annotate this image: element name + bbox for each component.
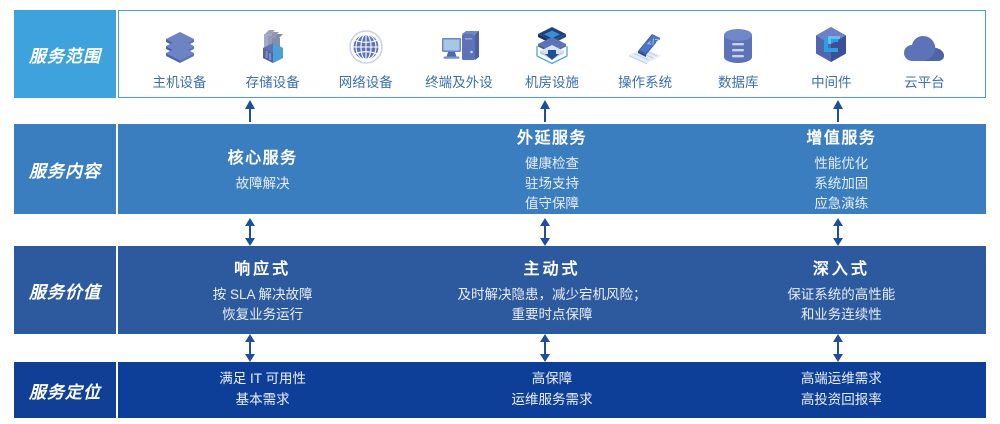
row-label-service-content: 服务内容 xyxy=(14,124,116,214)
row-label-service-value: 服务价值 xyxy=(14,246,116,334)
scope-item-network-device[interactable]: 网络设备 xyxy=(319,17,412,91)
row-service-scope: 服务范围 xyxy=(0,10,1000,98)
value-column-lines: 按 SLA 解决故障 恢复业务运行 xyxy=(213,285,313,326)
content-line: 驻场支持 xyxy=(525,174,579,194)
content-column-extended-service[interactable]: 外延服务 健康检查 驻场支持 值守保障 xyxy=(407,124,696,214)
connector-value-to-position-1 xyxy=(242,334,258,362)
scope-item-operating-system[interactable]: </> 操作系统 xyxy=(599,17,692,91)
scope-item-storage-device[interactable]: 存储设备 xyxy=(226,17,319,91)
content-line: 系统加固 xyxy=(814,174,868,194)
scope-item-terminal-peripheral[interactable]: 终端及外设 xyxy=(412,17,505,91)
globe-network-icon xyxy=(347,24,385,66)
position-line: 基本需求 xyxy=(219,390,306,411)
position-line: 高投资回报率 xyxy=(801,390,882,411)
value-column-proactive[interactable]: 主动式 及时解决隐患，减少宕机风险； 重要时点保障 xyxy=(407,246,696,334)
connector-scope-to-content-3 xyxy=(830,100,846,122)
content-column-title: 核心服务 xyxy=(228,144,298,168)
value-column-title: 响应式 xyxy=(234,255,291,279)
value-line: 恢复业务运行 xyxy=(213,305,313,325)
value-column-title: 主动式 xyxy=(523,255,580,279)
desktop-pc-icon xyxy=(438,24,480,66)
row-service-value: 服务价值 响应式 按 SLA 解决故障 恢复业务运行 主动式 及时解决隐患，减少… xyxy=(0,246,1000,334)
content-column-title: 增值服务 xyxy=(806,124,876,148)
server-stack-icon xyxy=(160,24,200,66)
row-label-service-positioning: 服务定位 xyxy=(14,362,116,418)
connector-value-to-position-2 xyxy=(537,334,553,362)
scope-item-host-device[interactable]: 主机设备 xyxy=(133,17,226,91)
content-column-lines: 故障解决 xyxy=(236,174,290,194)
connector-content-to-value-2 xyxy=(537,218,553,246)
position-column-lines: 高保障 运维服务需求 xyxy=(511,369,592,411)
content-column-core-service[interactable]: 核心服务 故障解决 xyxy=(118,124,407,214)
value-line: 保证系统的高性能 xyxy=(787,285,895,305)
content-line: 故障解决 xyxy=(236,174,290,194)
value-column-lines: 及时解决隐患，减少宕机风险； 重要时点保障 xyxy=(457,285,646,326)
cloud-icon xyxy=(902,24,946,66)
storage-array-icon xyxy=(253,24,293,66)
connector-value-to-position-3 xyxy=(830,334,846,362)
row-label-text: 服务内容 xyxy=(29,157,101,182)
value-line: 和业务连续性 xyxy=(787,305,895,325)
position-column-lines: 高端运维需求 高投资回报率 xyxy=(801,369,882,411)
content-column-lines: 健康检查 驻场支持 值守保障 xyxy=(525,154,579,215)
row-label-text: 服务范围 xyxy=(29,42,101,67)
value-line: 按 SLA 解决故障 xyxy=(213,285,313,305)
scope-item-label: 存储设备 xyxy=(246,71,300,91)
connector-content-to-value-1 xyxy=(242,218,258,246)
scope-item-label: 操作系统 xyxy=(618,71,672,91)
value-column-indepth[interactable]: 深入式 保证系统的高性能 和业务连续性 xyxy=(697,246,986,334)
value-line: 重要时点保障 xyxy=(457,305,646,325)
content-line: 性能优化 xyxy=(814,154,868,174)
position-line: 运维服务需求 xyxy=(511,390,592,411)
service-positioning-columns: 满足 IT 可用性 基本需求 高保障 运维服务需求 高端运维需求 高投资回报率 xyxy=(118,362,986,418)
scope-item-datacenter-facility[interactable]: 机房设施 xyxy=(505,17,598,91)
laptop-code-icon: </> xyxy=(623,24,667,66)
connector-content-to-value-3 xyxy=(830,218,846,246)
connector-scope-to-content-2 xyxy=(537,100,553,122)
scope-item-label: 主机设备 xyxy=(153,71,207,91)
scope-item-database[interactable]: 数据库 xyxy=(692,17,785,91)
position-column-lines: 满足 IT 可用性 基本需求 xyxy=(219,369,306,411)
scope-item-label: 云平台 xyxy=(904,71,945,91)
cube-middleware-icon xyxy=(811,24,851,66)
row-label-service-scope: 服务范围 xyxy=(14,10,116,98)
row-service-content: 服务内容 核心服务 故障解决 外延服务 健康检查 驻场支持 值守保障 增值服务 xyxy=(0,124,1000,214)
service-content-columns: 核心服务 故障解决 外延服务 健康检查 驻场支持 值守保障 增值服务 性能优化 … xyxy=(118,124,986,214)
row-service-positioning: 服务定位 满足 IT 可用性 基本需求 高保障 运维服务需求 高端运维需求 高投… xyxy=(0,362,1000,418)
row-label-text: 服务定位 xyxy=(29,378,101,403)
value-column-lines: 保证系统的高性能 和业务连续性 xyxy=(787,285,895,326)
scope-item-label: 机房设施 xyxy=(525,71,579,91)
scope-item-label: 终端及外设 xyxy=(425,71,493,91)
position-column-basic[interactable]: 满足 IT 可用性 基本需求 xyxy=(118,362,407,418)
scope-item-middleware[interactable]: 中间件 xyxy=(785,17,878,91)
scope-item-label: 网络设备 xyxy=(339,71,393,91)
content-column-title: 外延服务 xyxy=(517,124,587,148)
content-line: 健康检查 xyxy=(525,154,579,174)
position-column-highend[interactable]: 高端运维需求 高投资回报率 xyxy=(697,362,986,418)
value-line: 及时解决隐患，减少宕机风险； xyxy=(457,285,646,305)
database-cylinder-icon xyxy=(719,24,757,66)
row-label-text: 服务价值 xyxy=(29,278,101,303)
scope-item-label: 中间件 xyxy=(811,71,852,91)
position-line: 高端运维需求 xyxy=(801,369,882,390)
scope-item-cloud-platform[interactable]: 云平台 xyxy=(878,17,971,91)
data-center-icon xyxy=(530,24,574,66)
content-column-lines: 性能优化 系统加固 应急演练 xyxy=(814,154,868,215)
connector-scope-to-content-1 xyxy=(242,100,258,122)
content-column-value-added-service[interactable]: 增值服务 性能优化 系统加固 应急演练 xyxy=(697,124,986,214)
svg-text:</>: </> xyxy=(646,36,661,48)
position-line: 满足 IT 可用性 xyxy=(219,369,306,390)
content-line: 应急演练 xyxy=(814,194,868,214)
position-line: 高保障 xyxy=(511,369,592,390)
scope-item-label: 数据库 xyxy=(718,71,759,91)
value-column-responsive[interactable]: 响应式 按 SLA 解决故障 恢复业务运行 xyxy=(118,246,407,334)
position-column-assurance[interactable]: 高保障 运维服务需求 xyxy=(407,362,696,418)
value-column-title: 深入式 xyxy=(813,255,870,279)
service-value-columns: 响应式 按 SLA 解决故障 恢复业务运行 主动式 及时解决隐患，减少宕机风险；… xyxy=(118,246,986,334)
service-system-diagram: 服务范围 xyxy=(0,0,1000,424)
service-scope-items: 主机设备 xyxy=(118,10,986,98)
content-line: 值守保障 xyxy=(525,194,579,214)
